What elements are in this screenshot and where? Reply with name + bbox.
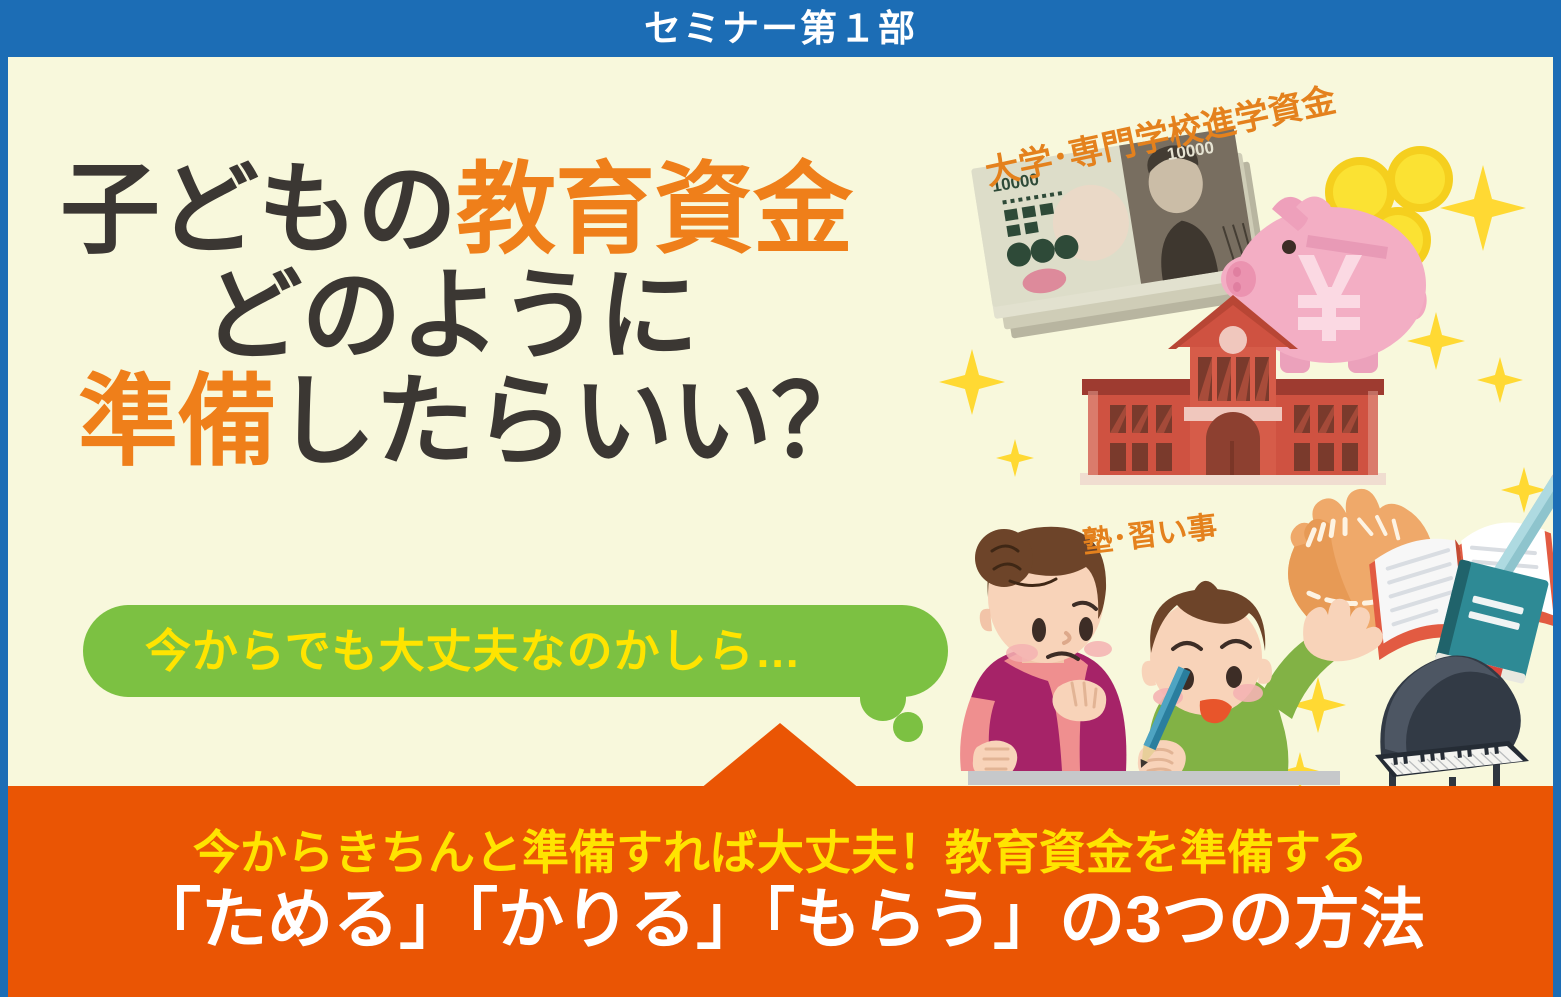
headline-line1-orange: 教育資金	[456, 154, 852, 266]
header-bar: セミナー第１部	[0, 0, 1561, 57]
headline-line3-orange: 準備	[78, 366, 276, 478]
body-panel: 10000 10000	[8, 57, 1553, 794]
headline-line-1: 子どもの教育資金	[60, 157, 960, 263]
headline-line1-dark: 子どもの	[60, 154, 456, 266]
band-arrow	[700, 723, 860, 789]
thought-bubble-text: 今からでも大丈夫なのかしら…	[83, 628, 802, 674]
seminar-poster: セミナー第１部	[0, 0, 1561, 997]
thought-bubble: 今からでも大丈夫なのかしら…	[83, 605, 948, 697]
headline-block: 子どもの教育資金 どのように 準備したらいい？	[60, 157, 960, 475]
headline-line-3: 準備したらいい？	[60, 369, 960, 475]
thought-bubble-dot	[893, 712, 923, 742]
desk-surface	[968, 771, 1340, 785]
happy-boy-raising-hand-icon	[1135, 581, 1383, 782]
headline-line3-dark: したらいい？	[276, 366, 870, 478]
worried-mother-icon	[960, 527, 1126, 780]
headline-line-2: どのように	[60, 263, 960, 369]
header-title: セミナー第１部	[644, 10, 917, 47]
bottom-band-line-2: 「ためる」「かりる」「もらう」の3つの方法	[135, 883, 1426, 956]
bottom-band: 今からきちんと準備すれば大丈夫！教育資金を準備する 「ためる」「かりる」「もらう…	[8, 786, 1553, 997]
bottom-band-line-1: 今からきちんと準備すれば大丈夫！教育資金を準備する	[193, 827, 1368, 879]
